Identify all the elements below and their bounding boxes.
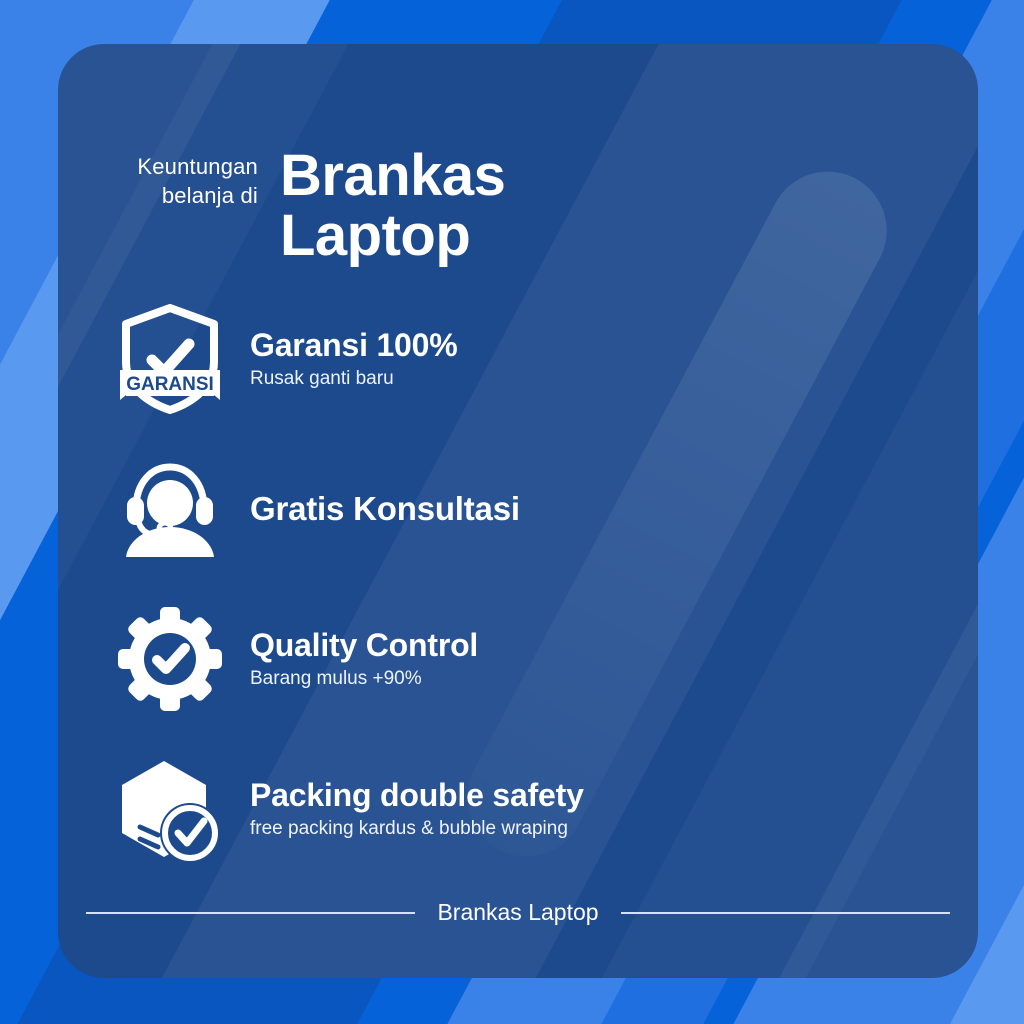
feature-title: Packing double safety <box>250 777 584 815</box>
feature-item: Gratis Konsultasi <box>58 434 978 584</box>
footer-divider-left <box>86 912 415 914</box>
headset-support-agent-icon <box>116 455 224 563</box>
feature-list: GARANSI Garansi 100% Rusak ganti baru <box>58 284 978 884</box>
footer-divider-right <box>621 912 950 914</box>
card-footer: Brankas Laptop <box>58 899 978 926</box>
header-kicker: Keuntungan belanja di <box>80 146 258 211</box>
gear-check-icon <box>116 605 224 713</box>
promo-graphic: Keuntungan belanja di Brankas Laptop <box>0 0 1024 1024</box>
feature-item: Quality Control Barang mulus +90% <box>58 584 978 734</box>
footer-brand-label: Brankas Laptop <box>415 899 620 926</box>
feature-subtitle: Barang mulus +90% <box>250 667 478 692</box>
feature-item: Packing double safety free packing kardu… <box>58 734 978 884</box>
feature-subtitle: Rusak ganti baru <box>250 367 458 392</box>
ribbon-label: GARANSI <box>126 374 214 395</box>
card-header: Keuntungan belanja di Brankas Laptop <box>58 146 978 267</box>
shield-check-garansi-icon: GARANSI <box>116 305 224 413</box>
package-box-check-icon <box>116 755 224 863</box>
feature-subtitle: free packing kardus & bubble wraping <box>250 817 584 842</box>
promo-card: Keuntungan belanja di Brankas Laptop <box>58 44 978 978</box>
feature-title: Gratis Konsultasi <box>250 490 520 529</box>
brand-title: Brankas Laptop <box>280 146 505 267</box>
feature-title: Quality Control <box>250 627 478 665</box>
feature-item: GARANSI Garansi 100% Rusak ganti baru <box>58 284 978 434</box>
feature-title: Garansi 100% <box>250 327 458 365</box>
